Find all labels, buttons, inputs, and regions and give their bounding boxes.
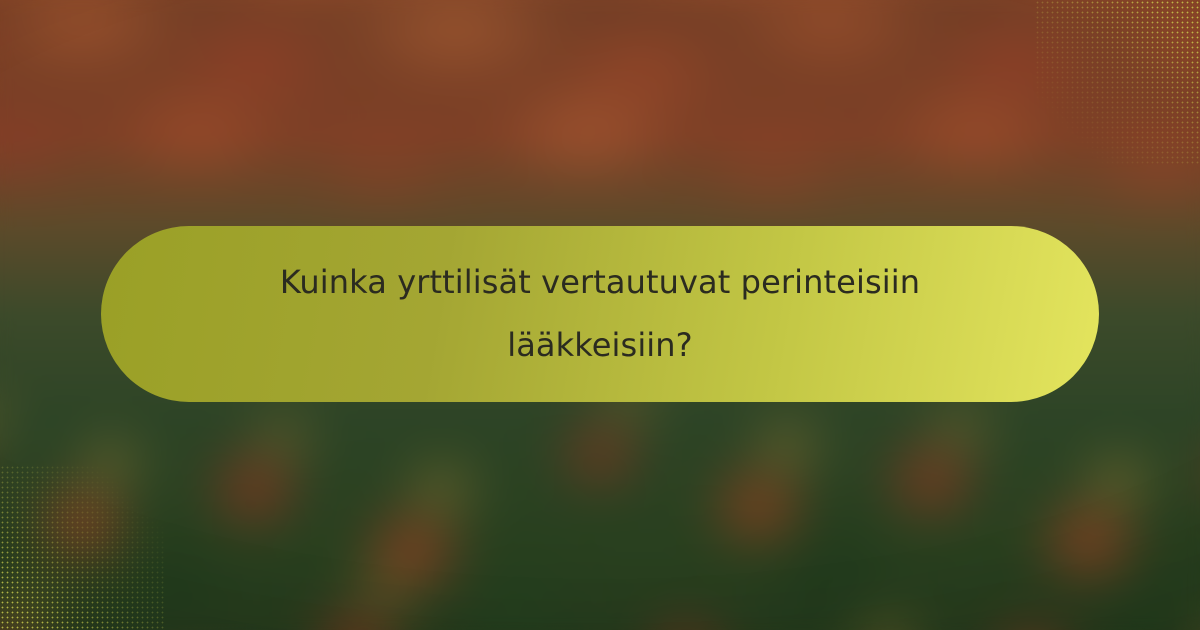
question-pill: Kuinka yrttilisät vertautuvat perinteisi… [101,226,1099,402]
question-text: Kuinka yrttilisät vertautuvat perinteisi… [250,251,950,377]
content-layer: Kuinka yrttilisät vertautuvat perinteisi… [0,0,1200,630]
